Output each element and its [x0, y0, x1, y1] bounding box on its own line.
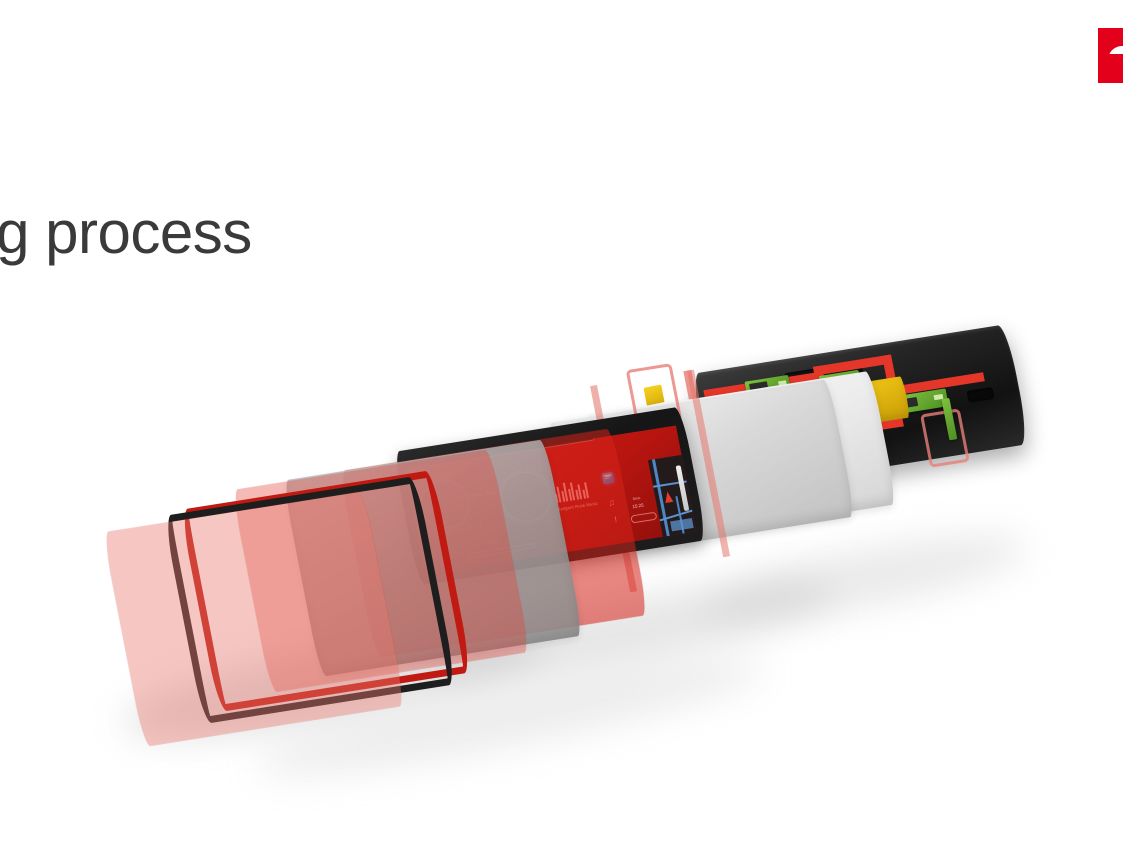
- map-road: [670, 518, 694, 531]
- brand-logo-icon: [1098, 28, 1123, 83]
- map-view[interactable]: [648, 455, 697, 539]
- slide-canvas: nding process isplay: [0, 0, 1123, 842]
- page-title-line-1: nding process: [0, 199, 252, 266]
- nav-heading-arrow: [663, 491, 673, 503]
- cover-glass-surface: [103, 491, 406, 746]
- nav-eta-label: 15:25: [632, 502, 644, 509]
- brand-logo-notch-fill: [1108, 54, 1123, 64]
- nav-pill: [630, 511, 657, 523]
- nav-distance-label: Dest.: [632, 496, 641, 501]
- layer-cover-glass-outer: [103, 491, 406, 746]
- exploded-assembly-diagram: 20° 15:03 1273 410: [0, 300, 1123, 842]
